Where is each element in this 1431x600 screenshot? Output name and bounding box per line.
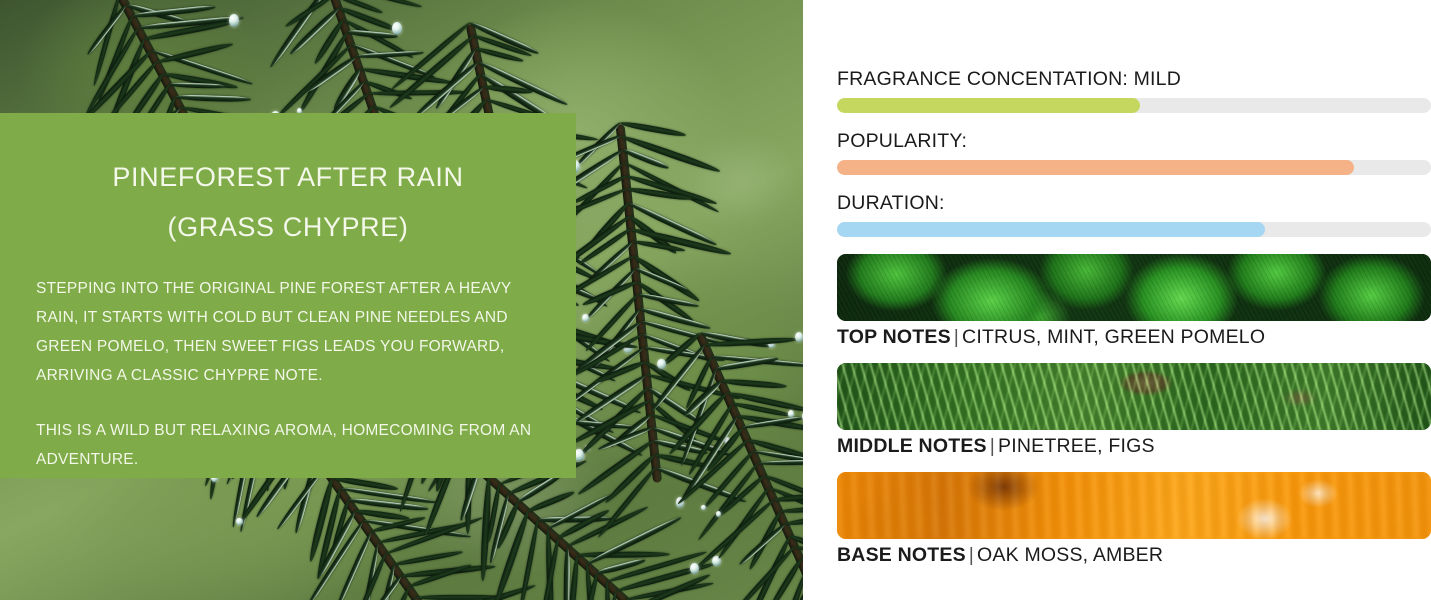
water-droplet xyxy=(690,563,699,574)
amber-texture xyxy=(837,472,1431,539)
note-key: TOP NOTES xyxy=(837,326,951,348)
water-droplet xyxy=(716,511,721,517)
note-block-top: TOP NOTES|CITRUS, MINT, GREEN POMELO xyxy=(837,254,1431,349)
title-line-1: PINEFOREST AFTER RAIN xyxy=(112,162,463,192)
pine-needles-texture xyxy=(837,363,1431,430)
water-droplet xyxy=(582,314,589,323)
fragrance-details-panel: FRAGRANCE CONCENTATION: MILD POPULARITY:… xyxy=(803,0,1431,600)
hero-description: STEPPING INTO THE ORIGINAL PINE FOREST A… xyxy=(36,275,540,475)
meter-track xyxy=(837,160,1431,175)
pine-needle xyxy=(268,0,332,69)
note-separator: | xyxy=(951,326,962,348)
meter-key: POPULARITY: xyxy=(837,130,967,152)
note-value: OAK MOSS, AMBER xyxy=(977,544,1163,566)
meter-duration: DURATION: xyxy=(837,192,1431,237)
water-droplet xyxy=(229,14,239,26)
hero-paragraph-1: STEPPING INTO THE ORIGINAL PINE FOREST A… xyxy=(36,275,540,391)
meter-label: FRAGRANCE CONCENTATION: MILD xyxy=(837,68,1431,91)
mint-leaves-texture xyxy=(837,254,1431,321)
water-droplet xyxy=(236,518,242,526)
meter-popularity: POPULARITY: xyxy=(837,130,1431,175)
water-droplet xyxy=(657,359,665,369)
base-notes-image xyxy=(837,472,1431,539)
hero-caption-card: PINEFOREST AFTER RAIN (GRASS CHYPRE) STE… xyxy=(0,113,576,478)
water-droplet xyxy=(795,332,803,342)
meter-key: DURATION: xyxy=(837,192,945,214)
middle-notes-caption: MIDDLE NOTES|PINETREE, FIGS xyxy=(837,435,1431,458)
top-notes-caption: TOP NOTES|CITRUS, MINT, GREEN POMELO xyxy=(837,326,1431,349)
page-title: PINEFOREST AFTER RAIN (GRASS CHYPRE) xyxy=(36,153,540,253)
note-value: CITRUS, MINT, GREEN POMELO xyxy=(962,326,1265,348)
meter-fill xyxy=(837,222,1265,237)
pine-needle xyxy=(758,458,803,465)
meter-fill xyxy=(837,160,1354,175)
note-value: PINETREE, FIGS xyxy=(998,435,1155,457)
meter-track xyxy=(837,222,1431,237)
note-block-middle: MIDDLE NOTES|PINETREE, FIGS xyxy=(837,363,1431,458)
top-notes-image xyxy=(837,254,1431,321)
note-key: MIDDLE NOTES xyxy=(837,435,987,457)
pine-needle xyxy=(368,90,469,97)
middle-notes-image xyxy=(837,363,1431,430)
note-separator: | xyxy=(987,435,998,457)
meter-label: POPULARITY: xyxy=(837,130,1431,153)
meter-key: FRAGRANCE CONCENTATION: xyxy=(837,68,1128,90)
meter-track xyxy=(837,98,1431,113)
water-droplet xyxy=(392,22,402,35)
meter-label: DURATION: xyxy=(837,192,1431,215)
note-key: BASE NOTES xyxy=(837,544,966,566)
pine-needle xyxy=(619,120,686,138)
product-fragrance-infographic: PINEFOREST AFTER RAIN (GRASS CHYPRE) STE… xyxy=(0,0,1431,600)
title-line-2: (GRASS CHYPRE) xyxy=(36,203,540,253)
hero-image-panel: PINEFOREST AFTER RAIN (GRASS CHYPRE) STE… xyxy=(0,0,803,600)
meter-value: MILD xyxy=(1134,68,1181,90)
note-separator: | xyxy=(966,544,977,566)
meter-fragrance-concentation: FRAGRANCE CONCENTATION: MILD xyxy=(837,68,1431,113)
pine-needle xyxy=(577,552,670,558)
water-droplet xyxy=(701,505,705,511)
pine-needle xyxy=(721,378,787,390)
pine-needle xyxy=(175,94,251,102)
note-block-base: BASE NOTES|OAK MOSS, AMBER xyxy=(837,472,1431,567)
hero-paragraph-2: THIS IS A WILD BUT RELAXING AROMA, HOMEC… xyxy=(36,417,540,475)
pine-needle xyxy=(393,550,462,568)
meter-fill xyxy=(837,98,1140,113)
base-notes-caption: BASE NOTES|OAK MOSS, AMBER xyxy=(837,544,1431,567)
